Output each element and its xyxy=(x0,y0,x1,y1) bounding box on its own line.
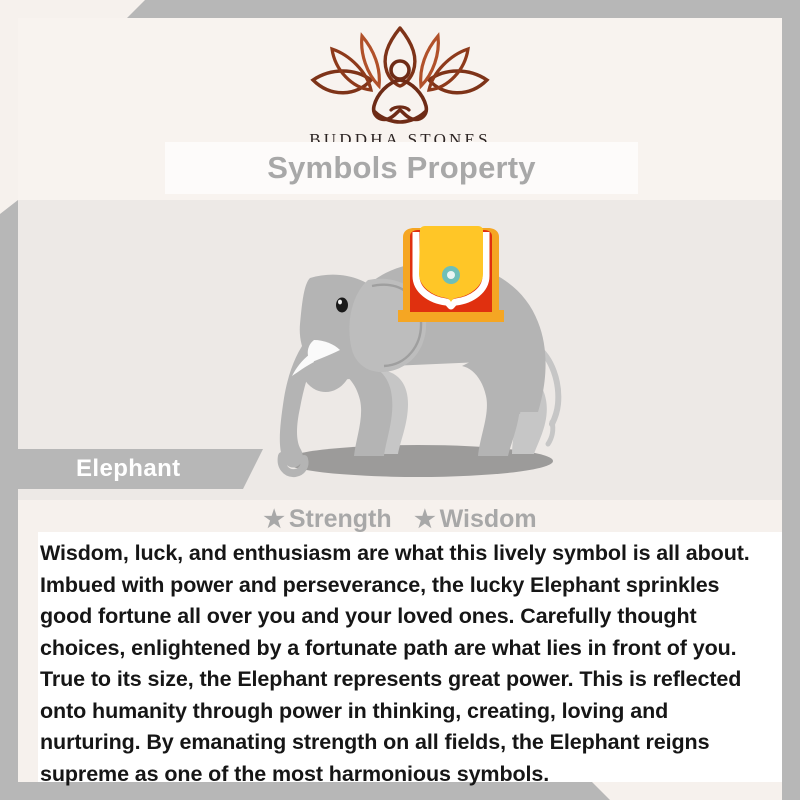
page-title: Symbols Property xyxy=(267,150,536,186)
brand-logo: BUDDHA STONES xyxy=(18,24,782,150)
star-icon: ★ xyxy=(263,506,285,533)
lotus-meditation-figure-icon xyxy=(305,24,495,128)
star-icon: ★ xyxy=(414,506,436,533)
symbol-name-ribbon: Elephant xyxy=(18,449,263,489)
symbol-property-card: BUDDHA STONES Symbols Property xyxy=(0,0,800,800)
attribute-wisdom: ★Wisdom xyxy=(414,505,537,534)
description-panel: Wisdom, luck, and enthusiasm are what th… xyxy=(38,532,782,782)
attribute-strength: ★Strength xyxy=(263,505,391,534)
walking-elephant-illustration xyxy=(250,218,580,488)
elephant-blanket-top-panel xyxy=(419,226,483,302)
frame-top-accent xyxy=(0,0,800,18)
symbol-attributes: ★Strength ★Wisdom xyxy=(18,505,782,534)
page-title-band: Symbols Property xyxy=(165,142,638,194)
attribute-wisdom-label: Wisdom xyxy=(440,505,537,533)
frame-right-accent xyxy=(782,0,800,800)
attribute-strength-label: Strength xyxy=(289,505,392,533)
symbol-name: Elephant xyxy=(76,455,181,483)
elephant-eye-icon xyxy=(336,298,348,313)
frame-left-accent xyxy=(0,200,18,800)
symbol-description: Wisdom, luck, and enthusiasm are what th… xyxy=(38,532,782,790)
